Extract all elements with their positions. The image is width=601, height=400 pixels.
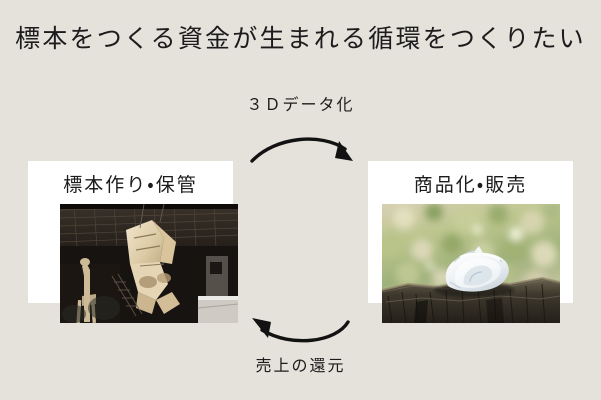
cycle-top-caption: ３Ｄデータ化 [0,91,601,115]
slide-canvas: 標本をつくる資金が生まれる循環をつくりたい ３Ｄデータ化 標本作り・保管 商品化… [0,0,601,400]
specimen-photo [60,204,238,323]
page-title: 標本をつくる資金が生まれる循環をつくりたい [0,22,601,56]
arrow-product-to-specimen [252,318,348,341]
specimen-photo-illustration [60,204,238,323]
cycle-bottom-caption: 売上の還元 [0,352,601,376]
product-photo [382,204,560,323]
product-photo-illustration [382,204,560,323]
cycle-node-product-label: 商品化・販売 [368,170,573,197]
cycle-node-specimen-label: 標本作り・保管 [28,170,233,197]
arrow-specimen-to-product [252,139,353,161]
